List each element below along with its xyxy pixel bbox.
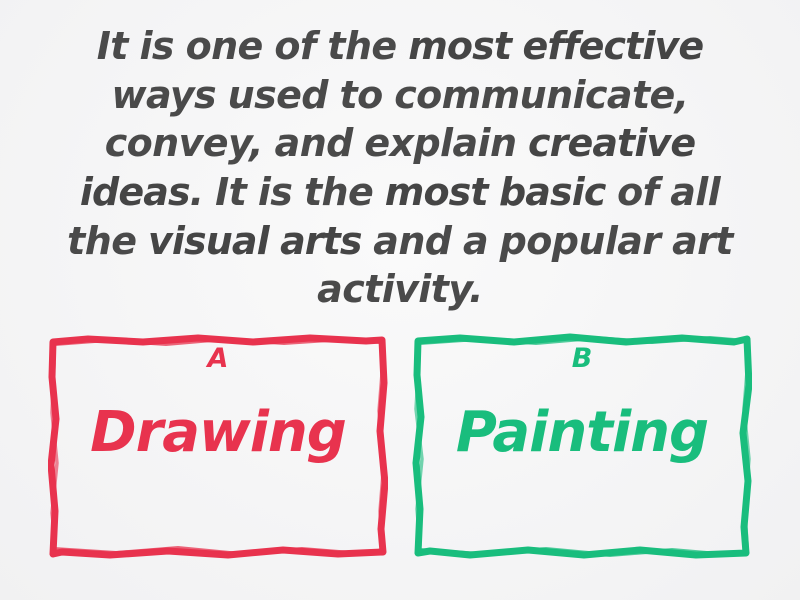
- answer-options-container: A Drawing B Painting: [0, 305, 800, 600]
- question-plain: and a popular art activity.: [317, 219, 733, 312]
- answer-b-label: Painting: [456, 404, 708, 463]
- question-plain: . It is the: [190, 170, 385, 214]
- question-emphasis: visual arts: [148, 219, 362, 263]
- question-area: It is one of the most effective ways use…: [0, 0, 800, 305]
- answer-a-letter: A: [208, 345, 229, 372]
- question-emphasis: most effective: [408, 24, 703, 68]
- answer-option-a[interactable]: A Drawing: [48, 333, 388, 559]
- answer-a-label: Drawing: [90, 404, 346, 463]
- answer-option-b[interactable]: B Painting: [412, 333, 752, 559]
- question-plain: It is one of the: [97, 24, 408, 68]
- question-emphasis: most basic: [385, 170, 606, 214]
- quiz-stage: It is one of the most effective ways use…: [0, 0, 800, 600]
- answer-b-letter: B: [572, 345, 593, 372]
- question-text: It is one of the most effective ways use…: [55, 22, 745, 314]
